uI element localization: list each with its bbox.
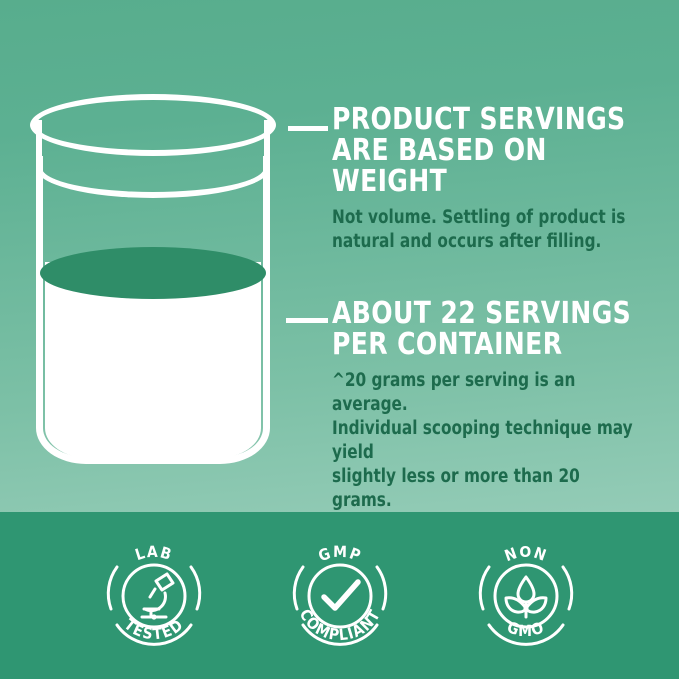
badge-top-label: LAB — [132, 542, 174, 563]
badge-bottom-label: GMO — [504, 618, 547, 640]
badge-gmp-compliant: GMP COMPLIANT — [281, 537, 399, 655]
callout-2-headline: ABOUT 22 SERVINGS PER CONTAINER — [332, 298, 648, 360]
tub-lid-top-ellipse — [30, 94, 276, 156]
outer-arc-left — [480, 567, 489, 609]
non-gmo-badge-graphic: NON GMO — [467, 537, 585, 655]
badge-top-label: GMP — [316, 542, 364, 564]
callout-servings-by-weight: PRODUCT SERVINGS ARE BASED ON WEIGHT Not… — [332, 104, 672, 254]
outer-arc-left — [294, 567, 303, 609]
badge-lab-tested: LAB TESTED — [95, 537, 213, 655]
callout-connector-line-1 — [288, 126, 328, 131]
outer-arc-right — [191, 567, 200, 609]
lab-tested-badge-graphic: LAB TESTED — [95, 537, 213, 655]
microscope-base-dot — [151, 614, 156, 619]
tub-powder-surface — [40, 247, 266, 299]
callout-connector-line-2 — [286, 318, 328, 323]
supplement-tub-illustration — [18, 92, 288, 492]
callout-servings-per-container: ABOUT 22 SERVINGS PER CONTAINER ^20 gram… — [332, 298, 672, 513]
checkmark-icon — [324, 582, 358, 608]
badge-top-label: NON — [502, 543, 549, 565]
callout-2-body: ^20 grams per serving is an average. Ind… — [332, 369, 645, 513]
gmp-compliant-badge-graphic: GMP COMPLIANT — [281, 537, 399, 655]
certification-bar: LAB TESTED GMP — [0, 512, 679, 679]
outer-arc-right — [377, 567, 386, 609]
outer-arc-left — [108, 567, 117, 609]
leaf-plant-icon — [506, 577, 546, 617]
callout-1-headline: PRODUCT SERVINGS ARE BASED ON WEIGHT — [332, 104, 648, 197]
outer-arc-right — [563, 567, 572, 609]
badge-non-gmo: NON GMO — [467, 537, 585, 655]
infographic-root: PRODUCT SERVINGS ARE BASED ON WEIGHT Not… — [0, 0, 679, 679]
microscope-icon — [142, 574, 173, 617]
callout-1-body: Not volume. Settling of product is natur… — [332, 206, 645, 254]
badge-bottom-label: COMPLIANT — [295, 606, 384, 644]
